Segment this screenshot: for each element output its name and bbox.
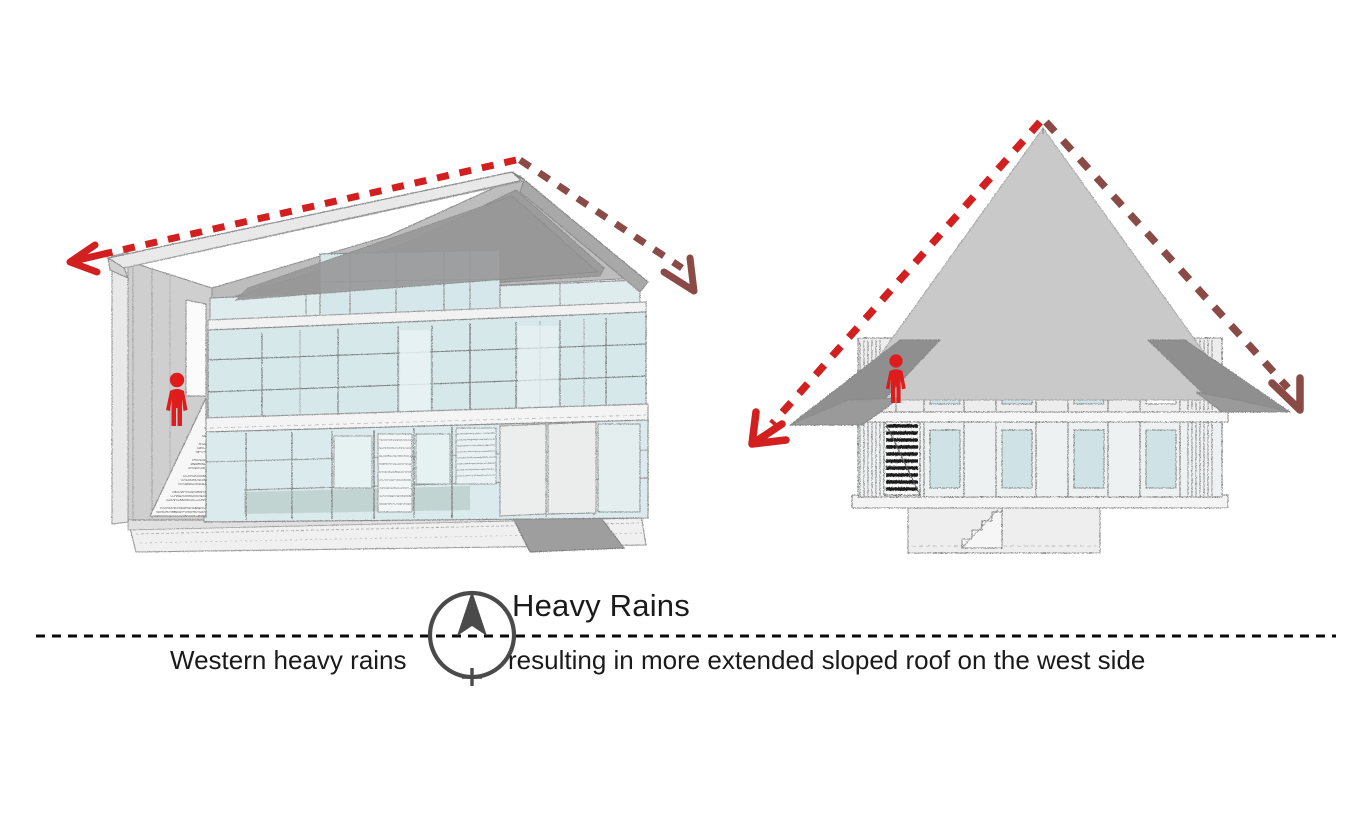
left-outer-wall — [112, 252, 128, 524]
diagram-title: Heavy Rains — [512, 588, 690, 624]
architecture-diagram-svg — [0, 0, 1362, 826]
left-doorway — [186, 300, 206, 396]
right-plinth — [908, 505, 1100, 553]
caption-right-part: resulting in more extended sloped roof o… — [508, 645, 1145, 676]
caption-left-part: Western heavy rains — [170, 645, 407, 676]
diagram-canvas: Heavy Rains Western heavy rains resultin… — [0, 0, 1362, 826]
left-louver-panel — [456, 428, 496, 484]
left-interior-stair-2 — [378, 434, 412, 512]
left-ground-floor — [204, 420, 648, 522]
right-interior-stair — [884, 420, 920, 495]
right-ground-floor — [858, 420, 1222, 497]
